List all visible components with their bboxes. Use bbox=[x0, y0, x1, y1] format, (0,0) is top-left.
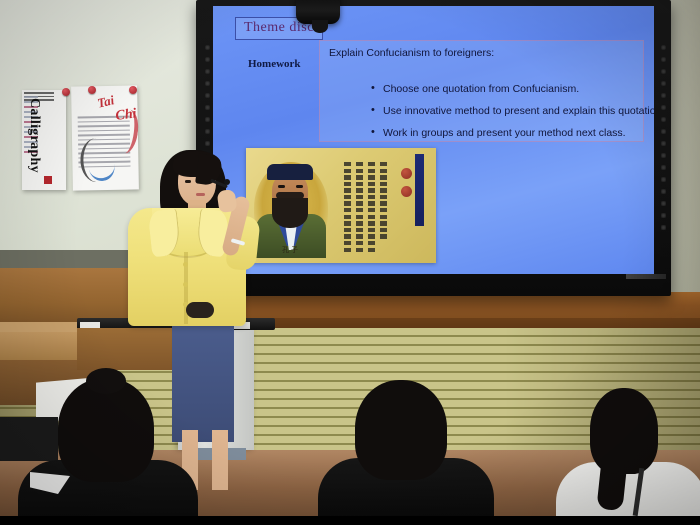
slide-bullet-item: Work in groups and present your method n… bbox=[369, 127, 654, 139]
slide-section-label: Homework bbox=[248, 58, 301, 70]
dark-box bbox=[0, 417, 58, 461]
classroom-scene: Calligraphy Tai Chi Theme disc Homework … bbox=[0, 0, 700, 525]
presentation-slide: Theme disc Homework Explain Confucianism… bbox=[213, 6, 654, 274]
slide-bullet-item: Choose one quotation from Confucianism. bbox=[369, 83, 654, 95]
microphone-head-icon bbox=[224, 179, 230, 185]
teacher-skirt bbox=[172, 322, 234, 442]
board-brand-logo bbox=[626, 274, 666, 279]
slide-bullet-list: Choose one quotation from Confucianism. … bbox=[329, 83, 654, 149]
teacher-held-object bbox=[186, 302, 214, 318]
confucius-image-card: 孔子 bbox=[246, 148, 436, 263]
magnet-pin bbox=[88, 86, 96, 94]
teacher-button bbox=[183, 282, 188, 287]
red-seal-stamp-icon bbox=[401, 186, 412, 197]
board-right-sensor-strip bbox=[661, 45, 666, 237]
board-screen[interactable]: Theme disc Homework Explain Confucianism… bbox=[213, 6, 654, 274]
red-seal-stamp-icon bbox=[401, 168, 412, 179]
tai-chi-poster: Tai Chi bbox=[71, 85, 139, 190]
letterbox-bar bbox=[0, 516, 700, 525]
slide-lead-text: Explain Confucianism to foreigners: bbox=[329, 47, 494, 59]
tai-chi-poster-title-line1: Tai bbox=[96, 92, 116, 111]
chinese-text-column bbox=[380, 162, 388, 254]
slide-content-box: Explain Confucianism to foreigners: Choo… bbox=[319, 40, 644, 142]
teacher-button bbox=[183, 262, 188, 267]
chinese-text-column bbox=[344, 162, 352, 254]
chinese-text-column bbox=[368, 162, 376, 254]
smart-board[interactable]: Theme disc Homework Explain Confucianism… bbox=[196, 0, 671, 296]
calligraphy-poster: Calligraphy bbox=[22, 90, 66, 190]
teacher-mouth bbox=[196, 193, 205, 196]
camera-lens-icon bbox=[312, 20, 328, 33]
chinese-text-column bbox=[356, 162, 364, 254]
confucius-beard bbox=[272, 198, 308, 228]
teacher-hand bbox=[217, 189, 238, 213]
student-hair-top bbox=[86, 368, 126, 394]
confucius-eye bbox=[296, 185, 303, 188]
magnet-pin bbox=[62, 88, 70, 96]
tai-chi-poster-title-line2: Chi bbox=[115, 106, 138, 124]
poster-stamp bbox=[44, 176, 52, 184]
magnet-pin bbox=[129, 86, 137, 94]
teacher-leg bbox=[212, 430, 228, 490]
student-head bbox=[590, 388, 658, 474]
student-head bbox=[355, 380, 447, 480]
confucius-caption: 孔子 bbox=[282, 245, 300, 255]
calligraphy-poster-title: Calligraphy bbox=[26, 98, 42, 186]
navy-vertical-bar bbox=[415, 154, 424, 226]
teacher-eye bbox=[185, 180, 191, 183]
confucius-eye bbox=[278, 185, 285, 188]
slide-bullet-item: Use innovative method to present and exp… bbox=[369, 105, 654, 117]
confucius-headwear bbox=[267, 164, 313, 180]
lectern-body bbox=[77, 328, 187, 370]
